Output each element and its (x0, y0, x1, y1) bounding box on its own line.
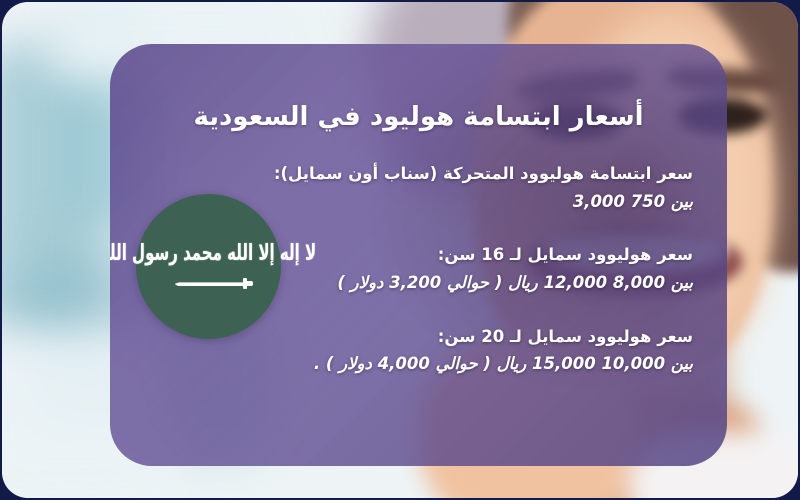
flag-sword-icon (165, 281, 253, 287)
price-range: بين 750 3,000 (273, 186, 693, 217)
price-item: سعر ابتسامة هوليوود المتحركة (سناب أون س… (273, 162, 693, 217)
price-item: سعر هوليوود سمايل لـ 20 سن: بين 10,000 1… (273, 325, 693, 380)
price-heading: سعر هوليوود سمايل لـ 20 سن: (273, 325, 693, 349)
screenshot-frame: أسعار ابتسامة هوليود في السعودية لا إله … (0, 0, 800, 500)
saudi-flag-icon: لا إله إلا الله محمد رسول الله (136, 194, 281, 339)
sword-blade (175, 282, 247, 286)
info-card: أسعار ابتسامة هوليود في السعودية لا إله … (110, 44, 727, 466)
price-item: سعر هوليوود سمايل لـ 16 سن: بين 8,000 12… (273, 243, 693, 298)
price-range: بين 10,000 15,000 ريال ( حوالي 4,000 دول… (273, 348, 693, 379)
price-heading: سعر ابتسامة هوليوود المتحركة (سناب أون س… (273, 162, 693, 186)
price-heading: سعر هوليوود سمايل لـ 16 سن: (273, 243, 693, 267)
price-list: سعر ابتسامة هوليوود المتحركة (سناب أون س… (273, 162, 693, 380)
price-range: بين 8,000 12,000 ريال ( حوالي 3,200 دولا… (273, 267, 693, 298)
page-title: أسعار ابتسامة هوليود في السعودية (110, 102, 727, 132)
sword-hilt (246, 281, 253, 286)
